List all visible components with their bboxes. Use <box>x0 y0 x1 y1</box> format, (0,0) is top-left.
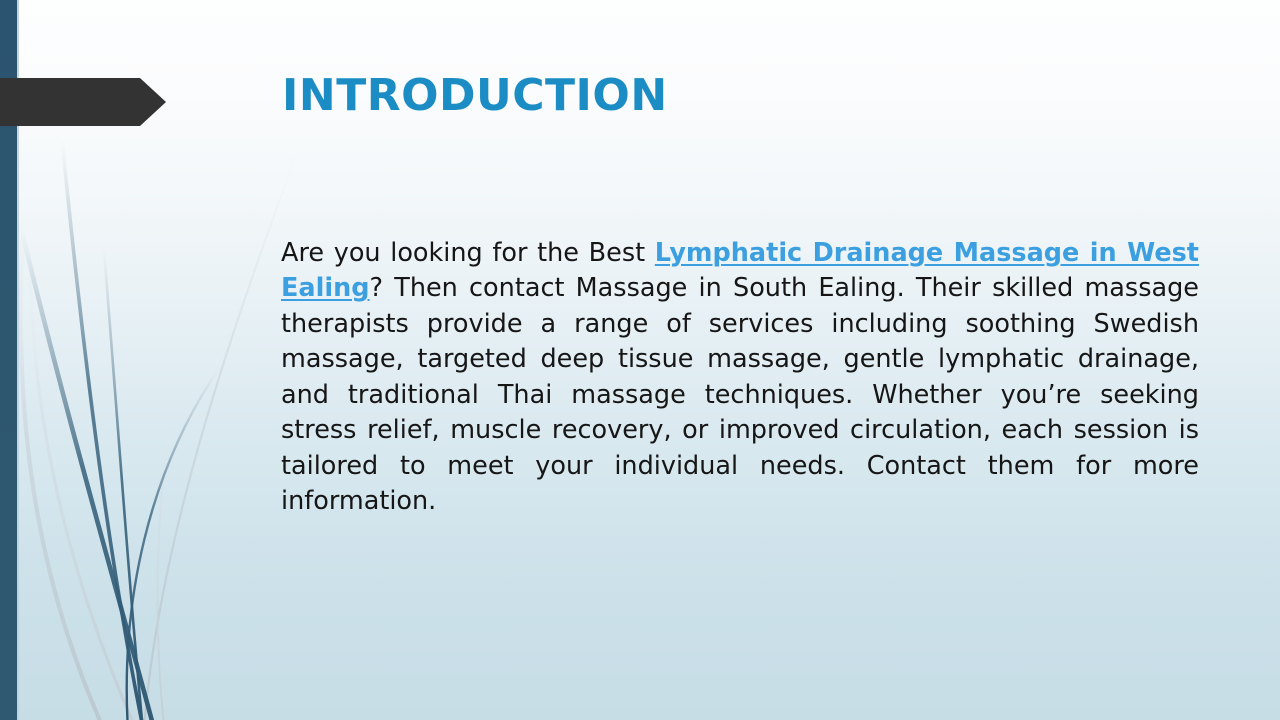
body-paragraph: Are you looking for the Best Lymphatic D… <box>281 236 1199 520</box>
body-text-after-link: ? Then contact Massage in South Ealing. … <box>281 273 1199 516</box>
page-title: INTRODUCTION <box>282 74 668 118</box>
arrow-banner-shape <box>0 78 166 126</box>
body-text-before-link: Are you looking for the Best <box>281 238 655 268</box>
presentation-slide: INTRODUCTION Are you looking for the Bes… <box>0 0 1280 720</box>
